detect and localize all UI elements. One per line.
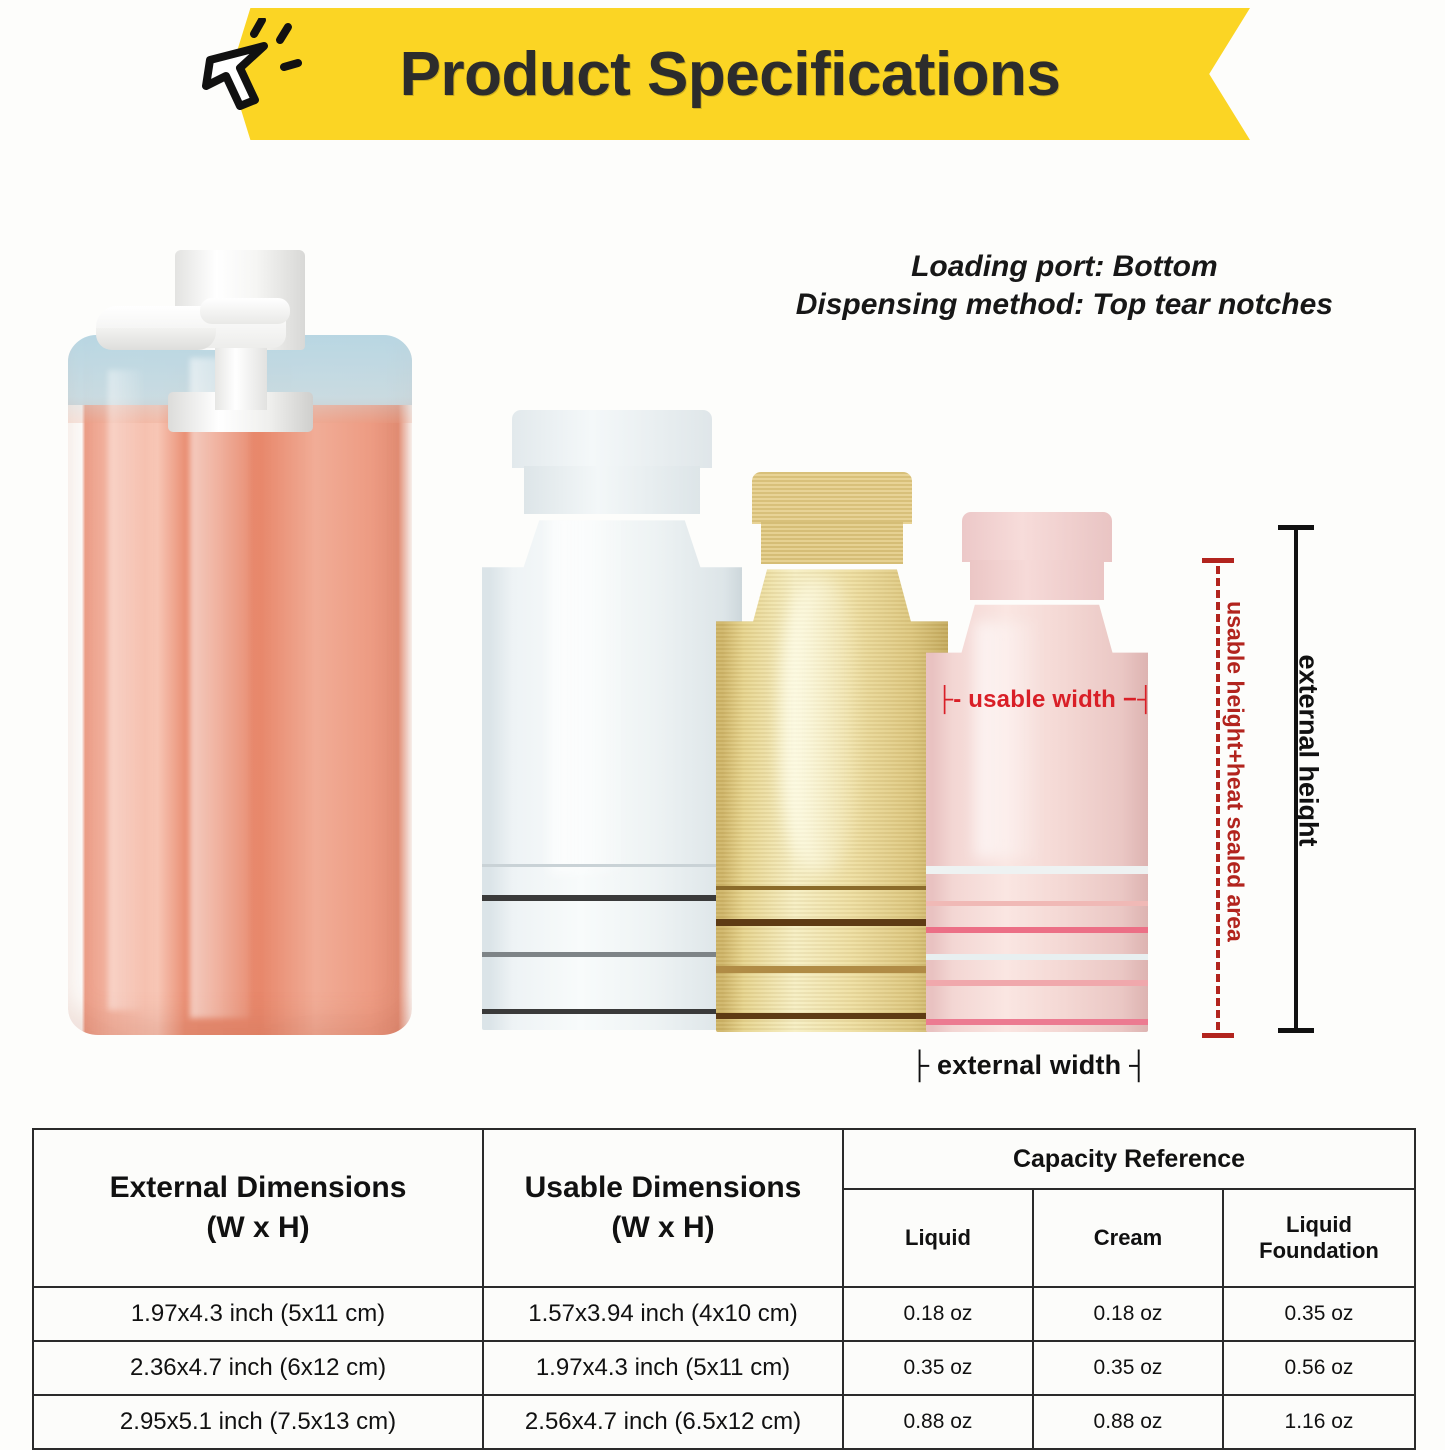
cell-external-dimensions: 2.36x4.7 inch (6x12 cm) [33, 1341, 483, 1395]
header-external-dimensions: External Dimensions (W x H) [33, 1129, 483, 1287]
gold-sachet [716, 472, 948, 1032]
bottle-highlight-2 [108, 370, 142, 1010]
sachet-stripe [926, 1019, 1148, 1025]
cell-usable-dimensions: 2.56x4.7 inch (6.5x12 cm) [483, 1395, 843, 1449]
pump-top-cap [200, 298, 290, 324]
product-image-stage [0, 140, 1445, 1120]
cell-capacity-foundation: 1.16 oz [1223, 1395, 1415, 1449]
header-usable-dimensions: Usable Dimensions (W x H) [483, 1129, 843, 1287]
cell-usable-dimensions: 1.57x3.94 inch (4x10 cm) [483, 1287, 843, 1341]
sachet-body [716, 560, 948, 1032]
sachet-neck [970, 560, 1104, 600]
table-header-row-1: External Dimensions (W x H) Usable Dimen… [33, 1129, 1415, 1189]
sachet-neck [524, 466, 700, 514]
sachet-stripe [926, 954, 1148, 960]
header-capacity-reference: Capacity Reference [843, 1129, 1415, 1189]
sachet-stripe [926, 927, 1148, 933]
header-capacity-liquid-foundation: Liquid Foundation [1223, 1189, 1415, 1287]
sachet-body [926, 596, 1148, 1032]
header-usable-line1: Usable Dimensions [485, 1168, 841, 1208]
header-banner: Product Specifications [0, 0, 1445, 150]
cell-capacity-cream: 0.18 oz [1033, 1287, 1223, 1341]
cell-capacity-liquid: 0.88 oz [843, 1395, 1033, 1449]
sachet-stripe [926, 980, 1148, 986]
cell-external-dimensions: 1.97x4.3 inch (5x11 cm) [33, 1287, 483, 1341]
table-row: 2.36x4.7 inch (6x12 cm) 1.97x4.3 inch (5… [33, 1341, 1415, 1395]
sachet-highlight [975, 622, 1042, 857]
table-row: 1.97x4.3 inch (5x11 cm) 1.57x3.94 inch (… [33, 1287, 1415, 1341]
header-capacity-liquid: Liquid [843, 1189, 1033, 1287]
white-sachet [482, 410, 742, 1030]
sachet-stripe [716, 919, 948, 926]
cell-capacity-cream: 0.88 oz [1033, 1395, 1223, 1449]
sachet-stripe [926, 866, 1148, 874]
cell-capacity-liquid: 0.35 oz [843, 1341, 1033, 1395]
cell-capacity-cream: 0.35 oz [1033, 1341, 1223, 1395]
sachet-highlight [550, 510, 628, 874]
cell-capacity-foundation: 0.56 oz [1223, 1341, 1415, 1395]
table-row: 2.95x5.1 inch (7.5x13 cm) 2.56x4.7 inch … [33, 1395, 1415, 1449]
sachet-stripe [716, 886, 948, 890]
pink-sachet [926, 512, 1148, 1032]
cell-capacity-liquid: 0.18 oz [843, 1287, 1033, 1341]
cursor-click-icon [192, 18, 302, 130]
sachet-body [482, 510, 742, 1030]
header-external-line2: (W x H) [35, 1208, 481, 1248]
bottle-highlight [190, 358, 250, 1018]
cell-external-dimensions: 2.95x5.1 inch (7.5x13 cm) [33, 1395, 483, 1449]
sachet-top-tab [512, 410, 712, 468]
sachet-top-tab [962, 512, 1112, 562]
sachet-stripe [716, 966, 948, 973]
header-external-line1: External Dimensions [35, 1168, 481, 1208]
header-usable-line2: (W x H) [485, 1208, 841, 1248]
cell-capacity-foundation: 0.35 oz [1223, 1287, 1415, 1341]
sachet-stripe [482, 864, 742, 867]
header-capacity-cream: Cream [1033, 1189, 1223, 1287]
page-title: Product Specifications [230, 8, 1230, 140]
sachet-stripe [926, 901, 1148, 906]
sachet-stripe [482, 952, 742, 957]
cell-usable-dimensions: 1.97x4.3 inch (5x11 cm) [483, 1341, 843, 1395]
sachet-stripe [716, 1013, 948, 1019]
sachet-top-tab [752, 472, 912, 524]
specifications-table: External Dimensions (W x H) Usable Dimen… [32, 1128, 1416, 1450]
sachet-highlight [781, 579, 860, 872]
sachet-stripe [482, 1009, 742, 1014]
sachet-neck [761, 522, 903, 564]
sachet-stripe [482, 895, 742, 901]
